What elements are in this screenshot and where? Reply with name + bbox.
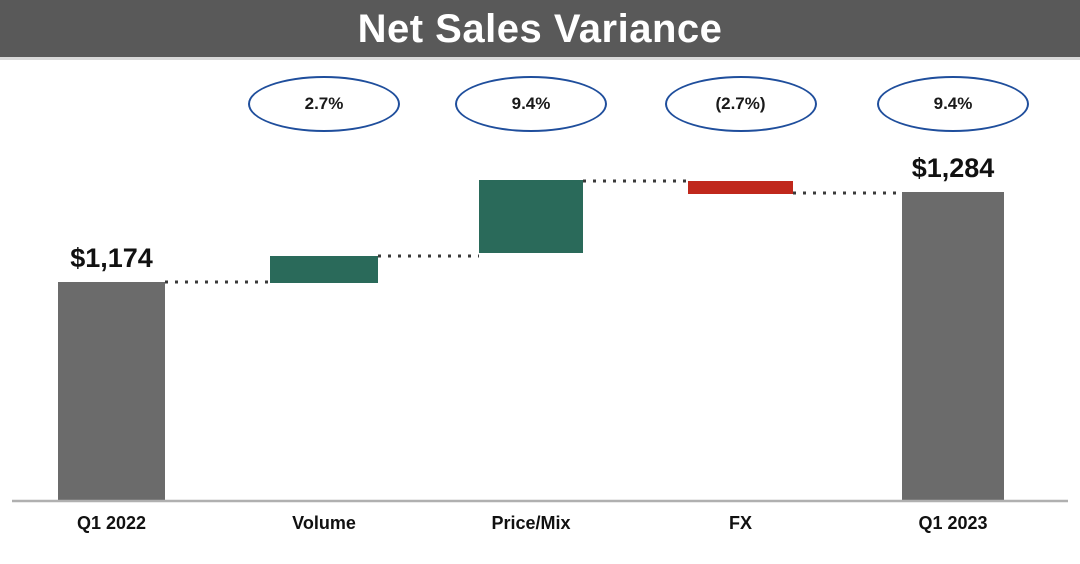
value-label-q1-2023: $1,284: [863, 153, 1043, 184]
percent-callout-fx: (2.7%): [665, 76, 817, 132]
value-label-q1-2022: $1,174: [22, 243, 202, 274]
percent-callout-text: 2.7%: [305, 94, 344, 114]
percent-callout-text: (2.7%): [715, 94, 765, 114]
bar-q1-2023: [902, 192, 1004, 501]
category-label-volume: Volume: [234, 513, 414, 534]
percent-callout-price-mix: 9.4%: [455, 76, 607, 132]
bar-volume: [270, 256, 378, 283]
bar-price-mix: [479, 180, 583, 253]
percent-callout-volume: 2.7%: [248, 76, 400, 132]
waterfall-chart: Net Sales Variance 2.7%9.4%(2.7%)9.4% $1…: [0, 0, 1080, 564]
percent-callout-q1-2023: 9.4%: [877, 76, 1029, 132]
bar-fx: [688, 181, 793, 194]
category-label-q1-2023: Q1 2023: [863, 513, 1043, 534]
category-label-fx: FX: [651, 513, 831, 534]
percent-callout-text: 9.4%: [934, 94, 973, 114]
bar-q1-2022: [58, 282, 165, 501]
category-label-price-mix: Price/Mix: [441, 513, 621, 534]
percent-callout-text: 9.4%: [512, 94, 551, 114]
category-label-q1-2022: Q1 2022: [22, 513, 202, 534]
bars-group: [58, 180, 1004, 501]
